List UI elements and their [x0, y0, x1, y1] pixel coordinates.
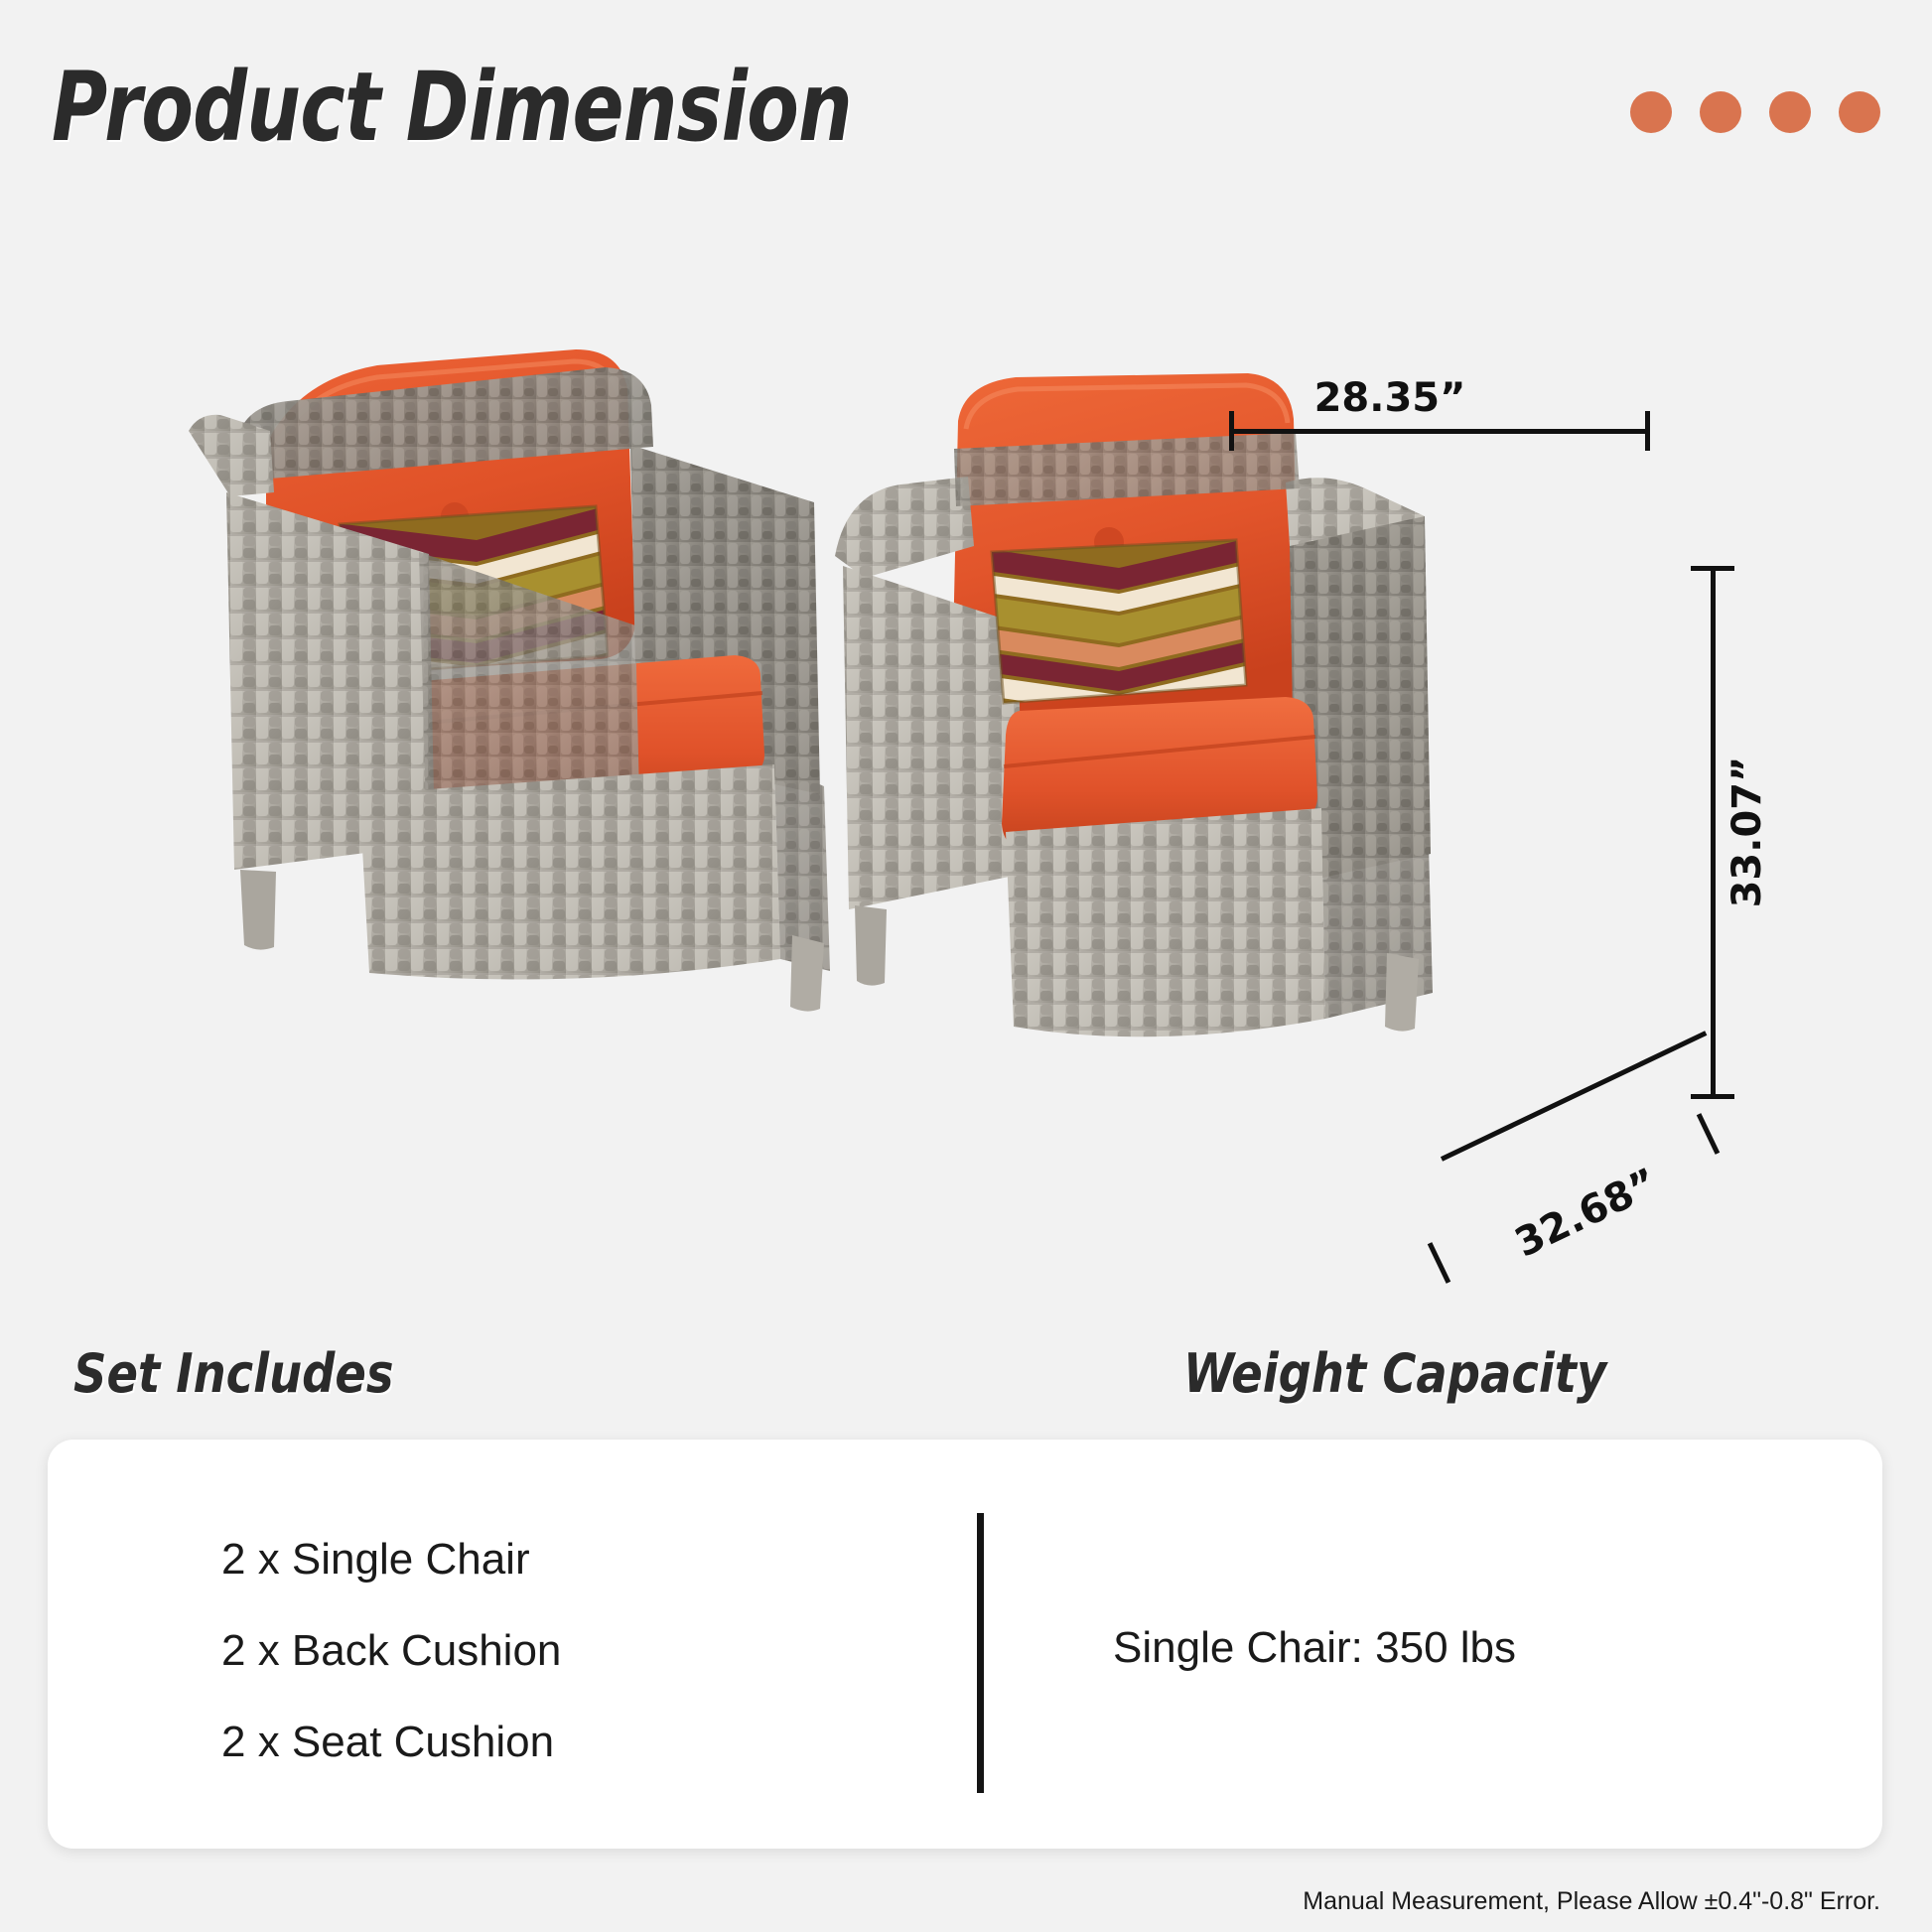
- chair-leg-right-front-right: [1385, 953, 1419, 1032]
- info-card: 2 x Single Chair 2 x Back Cushion 2 x Se…: [48, 1440, 1882, 1849]
- header-dot-3: [1769, 91, 1811, 133]
- product-dimension-page: Product Dimension: [0, 0, 1932, 1932]
- weight-capacity-value: Single Chair: 350 lbs: [1113, 1623, 1516, 1673]
- list-item: 2 x Single Chair: [221, 1535, 561, 1585]
- header-dot-1: [1630, 91, 1672, 133]
- weight-capacity-heading: Weight Capacity: [1183, 1342, 1606, 1405]
- page-title: Product Dimension: [52, 52, 852, 163]
- height-dimension-cap-bottom: [1691, 1094, 1734, 1099]
- height-dimension-line: [1711, 566, 1716, 1099]
- product-image-stage: [0, 288, 1932, 1301]
- header-dot-group: [1630, 91, 1880, 133]
- footer-disclaimer: Manual Measurement, Please Allow ±0.4"-0…: [1303, 1887, 1880, 1916]
- chair-base-right: [1006, 808, 1325, 1036]
- card-vertical-divider: [977, 1513, 984, 1793]
- set-includes-list: 2 x Single Chair 2 x Back Cushion 2 x Se…: [221, 1535, 561, 1767]
- chair-illustration-right: [769, 357, 1484, 1052]
- width-dimension-cap-left: [1229, 411, 1234, 451]
- set-includes-heading: Set Includes: [73, 1342, 394, 1405]
- width-dimension-line: [1229, 429, 1650, 434]
- width-dimension-label: 28.35”: [1314, 375, 1466, 421]
- height-dimension-cap-top: [1691, 566, 1734, 571]
- height-dimension-label: 33.07”: [1725, 757, 1770, 908]
- width-dimension-cap-right: [1645, 411, 1650, 451]
- header-dot-4: [1839, 91, 1880, 133]
- list-item: 2 x Back Cushion: [221, 1626, 561, 1676]
- chair-leg-front-left: [240, 870, 276, 950]
- chair-base-left: [359, 764, 780, 979]
- header-dot-2: [1700, 91, 1741, 133]
- list-item: 2 x Seat Cushion: [221, 1718, 561, 1767]
- chair-leg-right-front-left: [855, 905, 887, 986]
